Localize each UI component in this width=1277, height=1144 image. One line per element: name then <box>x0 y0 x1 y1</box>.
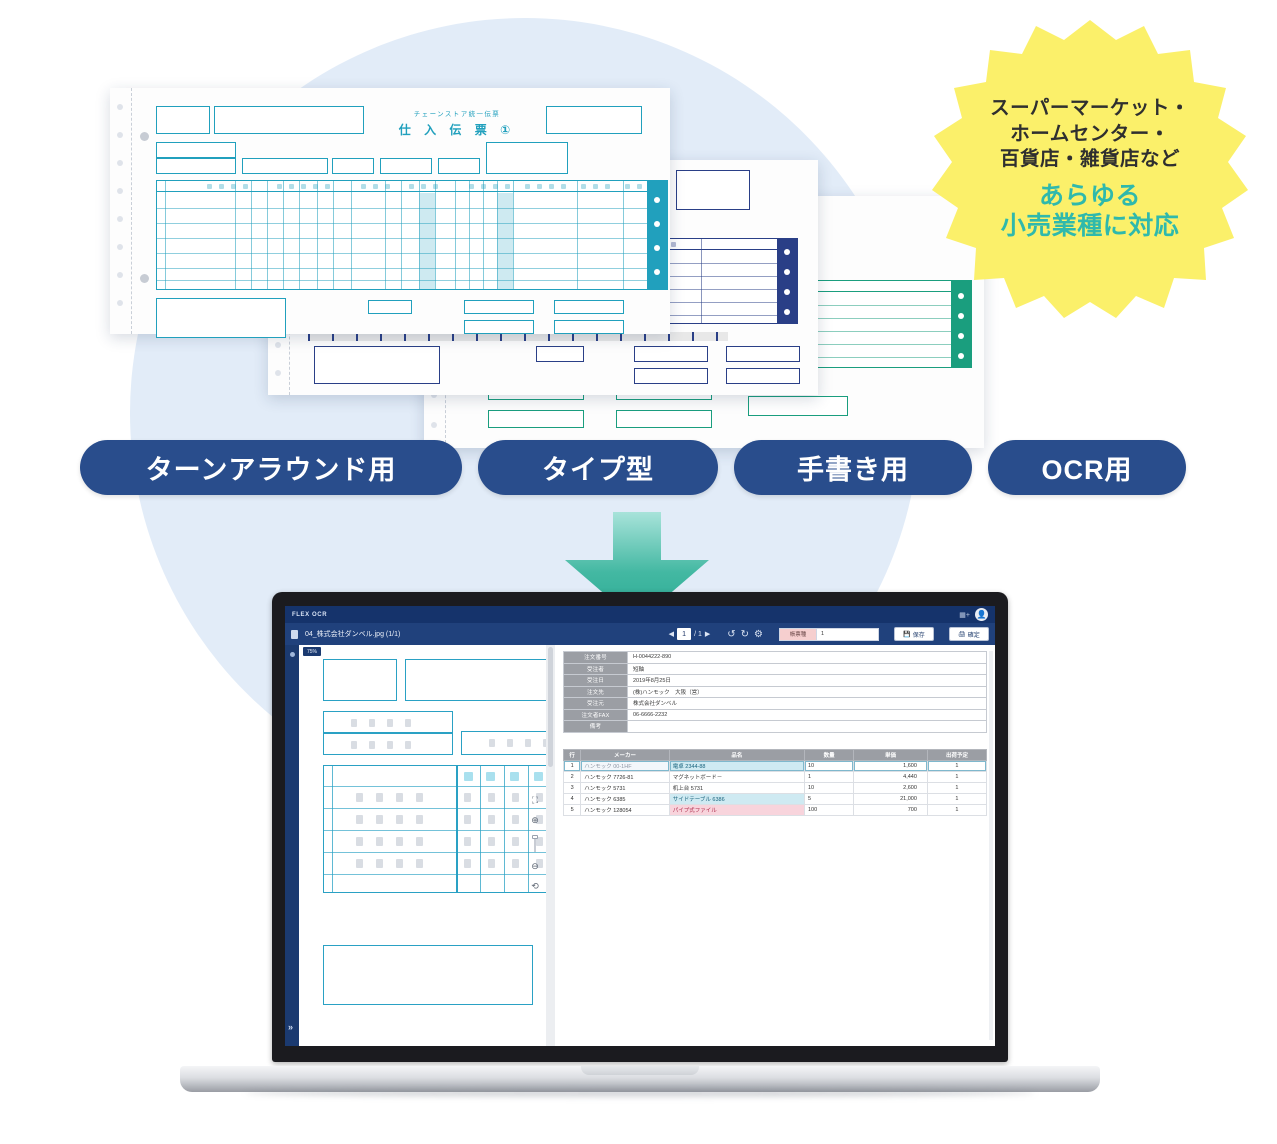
form-field-value[interactable]: 06-6666-2232 <box>628 709 987 721</box>
line-item-cell[interactable]: 3 <box>564 782 581 793</box>
line-item-cell[interactable]: 2 <box>564 771 581 782</box>
form-field-value[interactable]: 短軸 <box>628 663 987 675</box>
form-field-row: 注文者FAX06-6666-2232 <box>564 709 987 721</box>
app-header: FLEX OCR ▦+ 👤 <box>285 606 995 623</box>
slip-turnaround-teal: チェーンストア統一伝票 仕 入 伝 票 ① <box>110 88 670 334</box>
line-item-cell[interactable]: 1 <box>804 771 853 782</box>
slip-edge-stripe <box>777 239 797 323</box>
app-body: » 75% <box>285 645 995 1046</box>
pill-type[interactable]: タイプ型 <box>478 440 718 495</box>
badge-line-5: 小売業種に対応 <box>1001 211 1180 242</box>
save-icon: 💾 <box>903 631 910 638</box>
form-field-row: 注文番号H-0044222-890 <box>564 652 987 664</box>
pill-label: 手書き用 <box>797 448 909 487</box>
save-button[interactable]: 💾 保存 <box>894 627 934 641</box>
laptop-lid: FLEX OCR ▦+ 👤 04_株式会社ダンベル.jpg (1/1) ◀ 1 … <box>272 592 1008 1062</box>
line-item-cell[interactable]: 1 <box>927 771 986 782</box>
header-fields-table: 注文番号H-0044222-890受注者短軸受注日2019年8月25日注文先(株… <box>563 651 987 733</box>
laptop-shadow <box>245 1089 1035 1097</box>
line-column-header: 数量 <box>804 749 853 760</box>
line-item-cell[interactable]: ハンモック 6385 <box>581 793 670 804</box>
badge-line-3: 百貨店・雑貨店など <box>1000 147 1180 172</box>
line-column-header: 行 <box>564 749 581 760</box>
line-item-cell[interactable]: 10 <box>804 782 853 793</box>
redo-icon[interactable]: ↻ <box>741 629 749 640</box>
form-field-label: 受注日 <box>564 675 628 687</box>
form-field-value[interactable]: H-0044222-890 <box>628 652 987 664</box>
line-item-cell[interactable]: 100 <box>804 804 853 815</box>
pill-handwriting[interactable]: 手書き用 <box>734 440 972 495</box>
edit-tools: ↺ ↻ ⚙ <box>727 629 763 640</box>
line-items-table: 行メーカー品名数量単価出荷予定 1ハンモック 00-1HF電卓 2344-881… <box>563 749 987 816</box>
line-item-row[interactable]: 1ハンモック 00-1HF電卓 2344-88101,6001 <box>564 760 987 771</box>
line-item-row[interactable]: 5ハンモック 128054パイプ式ファイル1007001 <box>564 804 987 815</box>
form-field-label: 注文先 <box>564 686 628 698</box>
form-field-row: 受注元株式会社ダンベル <box>564 698 987 710</box>
form-field-row: 注文先(株)ハンモック 大阪（営） <box>564 686 987 698</box>
slip-title: チェーンストア統一伝票 仕 入 伝 票 ① <box>382 108 532 138</box>
grid-add-icon[interactable]: ▦+ <box>959 611 970 619</box>
line-column-header: メーカー <box>581 749 670 760</box>
line-item-cell[interactable]: 1 <box>927 804 986 815</box>
badge-retail-support: スーパーマーケット・ ホームセンター・ 百貨店・雑貨店など あらゆる 小売業種に… <box>930 14 1250 324</box>
avatar[interactable]: 👤 <box>975 608 988 621</box>
line-item-cell[interactable]: ハンモック 00-1HF <box>581 760 670 771</box>
form-field-value[interactable] <box>628 721 987 733</box>
line-column-header: 出荷予定 <box>927 749 986 760</box>
pager: ◀ 1 / 1 ▶ <box>669 628 711 640</box>
slip-title-small: チェーンストア統一伝票 <box>382 108 532 118</box>
line-column-header: 単価 <box>854 749 928 760</box>
sprocket-strip <box>110 88 132 334</box>
line-item-cell[interactable]: 1 <box>927 760 986 771</box>
form-type-input[interactable]: 1 <box>817 628 879 641</box>
line-item-cell[interactable]: サイドテーブル 6386 <box>669 793 804 804</box>
form-field-row: 備考 <box>564 721 987 733</box>
laptop-screen: FLEX OCR ▦+ 👤 04_株式会社ダンベル.jpg (1/1) ◀ 1 … <box>285 606 995 1046</box>
app-logo: FLEX OCR <box>292 612 327 618</box>
confirm-label: 確定 <box>968 630 980 639</box>
form-field-label: 注文者FAX <box>564 709 628 721</box>
preview-zoom-tools: ⛶ ⊕ ⊖ ⟲ <box>527 795 543 892</box>
page-total: / 1 <box>694 631 702 638</box>
laptop-mockup: FLEX OCR ▦+ 👤 04_株式会社ダンベル.jpg (1/1) ◀ 1 … <box>180 592 1100 1092</box>
zoom-out-icon[interactable]: ⊖ <box>531 861 539 872</box>
form-field-row: 受注者短軸 <box>564 663 987 675</box>
poster-stage: チェーンストア統一伝票 仕 入 伝 票 ① <box>0 0 1277 1144</box>
line-item-cell[interactable]: パイプ式ファイル <box>669 804 804 815</box>
line-item-cell[interactable]: 電卓 2344-88 <box>669 760 804 771</box>
form-type-pill-group: ターンアラウンド用 タイプ型 手書き用 OCR用 <box>0 440 1277 498</box>
zoom-slider[interactable] <box>534 835 536 852</box>
pill-label: ターンアラウンド用 <box>146 448 397 487</box>
rail-dot-icon <box>290 652 295 657</box>
line-item-cell[interactable]: 1 <box>927 782 986 793</box>
line-item-cell[interactable]: 21,000 <box>854 793 928 804</box>
confirm-icon: 🖨 <box>958 631 966 638</box>
save-label: 保存 <box>913 630 925 639</box>
line-item-cell[interactable]: 1,600 <box>854 760 928 771</box>
form-type-field: 帳票種 1 <box>779 628 879 641</box>
form-field-value[interactable]: 株式会社ダンベル <box>628 698 987 710</box>
line-item-cell[interactable]: 10 <box>804 760 853 771</box>
undo-icon[interactable]: ↺ <box>727 629 735 640</box>
form-field-label: 受注者 <box>564 663 628 675</box>
zoom-level-badge: 75% <box>303 647 321 656</box>
zoom-in-icon[interactable]: ⊕ <box>531 815 539 826</box>
confirm-button[interactable]: 🖨 確定 <box>949 627 989 641</box>
sidebar-rail[interactable]: » <box>285 645 299 1046</box>
form-field-row: 受注日2019年8月25日 <box>564 675 987 687</box>
pill-label: タイプ型 <box>542 448 654 487</box>
line-item-cell[interactable]: 700 <box>854 804 928 815</box>
line-item-cell[interactable]: 1 <box>564 760 581 771</box>
line-item-row[interactable]: 2ハンモック 7726-81マグネットボード－14,4401 <box>564 771 987 782</box>
document-preview[interactable]: 75% <box>299 645 555 1046</box>
ocr-app: FLEX OCR ▦+ 👤 04_株式会社ダンベル.jpg (1/1) ◀ 1 … <box>285 606 995 1046</box>
badge-line-1: スーパーマーケット・ <box>990 96 1190 121</box>
pill-turnaround[interactable]: ターンアラウンド用 <box>80 440 462 495</box>
rotate-icon[interactable]: ⟲ <box>531 881 539 892</box>
line-item-cell[interactable]: 2,600 <box>854 782 928 793</box>
line-item-cell[interactable]: 4,440 <box>854 771 928 782</box>
form-field-value[interactable]: 2019年8月25日 <box>628 675 987 687</box>
badge-line-4: あらゆる <box>1039 181 1141 212</box>
slip-edge-stripe <box>647 181 667 289</box>
pill-label: OCR用 <box>1042 448 1133 487</box>
line-item-cell[interactable]: 5 <box>564 804 581 815</box>
line-item-row[interactable]: 4ハンモック 6385サイドテーブル 6386521,0001 <box>564 793 987 804</box>
line-item-cell[interactable]: 4 <box>564 793 581 804</box>
line-item-cell[interactable]: 1 <box>927 793 986 804</box>
line-item-cell[interactable]: ハンモック 128054 <box>581 804 670 815</box>
next-page-icon[interactable]: ▶ <box>705 630 710 638</box>
line-item-cell[interactable]: ハンモック 5731 <box>581 782 670 793</box>
form-field-label: 注文番号 <box>564 652 628 664</box>
pill-ocr[interactable]: OCR用 <box>988 440 1186 495</box>
form-type-label: 帳票種 <box>779 628 817 641</box>
fit-screen-icon[interactable]: ⛶ <box>532 795 538 806</box>
document-icon <box>291 630 298 639</box>
preview-scrollbar[interactable] <box>546 645 555 1046</box>
form-field-label: 備考 <box>564 721 628 733</box>
gear-icon[interactable]: ⚙ <box>754 629 763 640</box>
document-name: 04_株式会社ダンベル.jpg (1/1) <box>305 629 400 639</box>
form-field-label: 受注元 <box>564 698 628 710</box>
prev-page-icon[interactable]: ◀ <box>669 630 674 638</box>
expand-sidebar-icon[interactable]: » <box>288 1022 293 1032</box>
badge-line-2: ホームセンター・ <box>1010 122 1169 147</box>
line-item-cell[interactable]: マグネットボード－ <box>669 771 804 782</box>
line-item-cell[interactable]: ハンモック 7726-81 <box>581 771 670 782</box>
line-item-row[interactable]: 3ハンモック 5731机上台 5731102,6001 <box>564 782 987 793</box>
form-field-value[interactable]: (株)ハンモック 大阪（営） <box>628 686 987 698</box>
form-pane-scrollbar[interactable] <box>989 651 993 1040</box>
page-number-input[interactable]: 1 <box>677 628 691 640</box>
slip-title-big: 仕 入 伝 票 ① <box>382 121 532 138</box>
line-item-cell[interactable]: 机上台 5731 <box>669 782 804 793</box>
line-item-cell[interactable]: 5 <box>804 793 853 804</box>
app-toolbar: 04_株式会社ダンベル.jpg (1/1) ◀ 1 / 1 ▶ ↺ ↻ ⚙ <box>285 623 995 645</box>
recognized-form-pane: 注文番号H-0044222-890受注者短軸受注日2019年8月25日注文先(株… <box>555 645 995 1046</box>
line-column-header: 品名 <box>669 749 804 760</box>
